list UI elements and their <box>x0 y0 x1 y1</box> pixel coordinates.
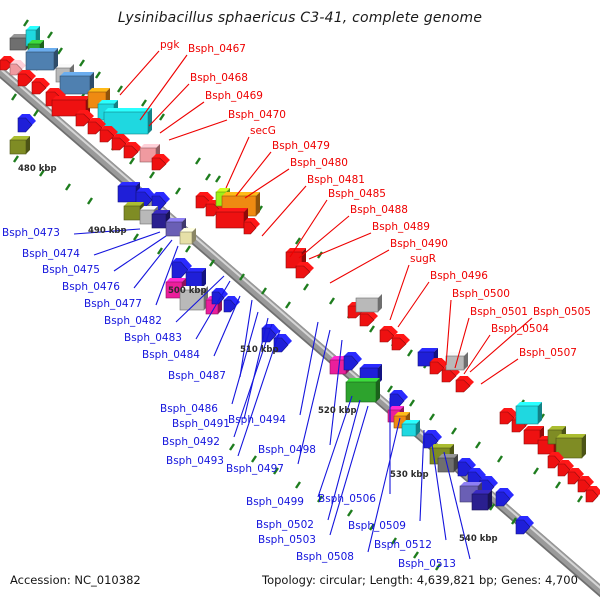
gene-box-top <box>60 72 94 76</box>
gene-box-face <box>516 406 538 424</box>
gene-label-bsph-0477[interactable]: Bsph_0477 <box>84 299 142 310</box>
ruler-tick-540: 540 kbp <box>459 534 498 544</box>
green-strand-marker[interactable] <box>348 510 352 516</box>
leader-line-red <box>299 216 349 258</box>
gene-label-bsph-0493[interactable]: Bsph_0493 <box>166 456 224 467</box>
gene-feature-rev-15[interactable] <box>390 390 408 408</box>
gene-label-bsph-0491[interactable]: Bsph_0491 <box>172 419 230 430</box>
green-strand-marker[interactable] <box>498 456 502 462</box>
gene-label-pgk[interactable]: pgk <box>160 40 179 51</box>
gene-label-bsph-0484[interactable]: Bsph_0484 <box>142 350 200 361</box>
green-strand-marker[interactable] <box>388 386 392 392</box>
green-strand-marker[interactable] <box>80 60 84 66</box>
gene-label-bsph-0507[interactable]: Bsph_0507 <box>519 348 577 359</box>
gene-label-secg[interactable]: secG <box>250 126 276 137</box>
green-strand-marker[interactable] <box>160 114 164 120</box>
leader-line-red <box>481 359 518 384</box>
gene-label-bsph-0508[interactable]: Bsph_0508 <box>296 552 354 563</box>
gene-feature-rev-12[interactable] <box>344 352 362 370</box>
gene-feature-fwd-19[interactable] <box>124 142 142 158</box>
green-strand-marker[interactable] <box>196 158 200 164</box>
gene-feature-fwd-35[interactable] <box>244 218 260 234</box>
gene-feature-rev-26[interactable] <box>472 490 492 510</box>
gene-feature-rev-8[interactable] <box>224 296 240 312</box>
gene-feature-rev-18[interactable] <box>402 420 420 436</box>
leader-line-red <box>120 51 159 95</box>
green-strand-marker[interactable] <box>430 414 434 420</box>
gene-box-face <box>166 222 182 236</box>
gene-label-bsph-0500[interactable]: Bsph_0500 <box>452 289 510 300</box>
green-strand-marker[interactable] <box>370 326 374 332</box>
gene-label-bsph-0497[interactable]: Bsph_0497 <box>226 464 284 475</box>
gene-feature-rev-0[interactable] <box>18 114 36 132</box>
gene-label-bsph-0476[interactable]: Bsph_0476 <box>62 282 120 293</box>
green-strand-marker[interactable] <box>286 302 290 308</box>
green-strand-marker[interactable] <box>408 350 412 356</box>
green-strand-marker[interactable] <box>88 198 92 204</box>
green-strand-marker[interactable] <box>534 468 538 474</box>
gene-feature-fwd-29[interactable] <box>180 228 196 244</box>
gene-label-bsph-0482[interactable]: Bsph_0482 <box>104 316 162 327</box>
gene-box-side <box>582 434 586 458</box>
green-strand-marker[interactable] <box>134 234 138 240</box>
gene-box-face <box>524 430 540 444</box>
gene-box-side <box>376 378 380 402</box>
green-strand-marker[interactable] <box>210 260 214 266</box>
gene-box-face <box>10 38 26 50</box>
ruler-tick-530: 530 kbp <box>390 470 429 480</box>
leader-line-red <box>390 265 409 320</box>
gene-box-face <box>402 424 416 436</box>
gene-feature-fwd-5[interactable] <box>26 48 58 70</box>
leader-line-red <box>236 152 271 196</box>
leader-line-red <box>309 233 371 259</box>
gene-box-top <box>26 48 58 52</box>
gene-box-face <box>26 52 54 70</box>
gene-feature-rev-27[interactable] <box>496 488 514 506</box>
gene-feature-fwd-34[interactable] <box>216 208 248 228</box>
gene-label-bsph-0496[interactable]: Bsph_0496 <box>430 271 488 282</box>
green-strand-marker[interactable] <box>262 288 266 294</box>
gene-label-bsph-0504[interactable]: Bsph_0504 <box>491 324 549 335</box>
green-strand-marker[interactable] <box>304 284 308 290</box>
gene-box-top <box>430 444 454 448</box>
green-strand-marker[interactable] <box>556 482 560 488</box>
gene-label-bsph-0494[interactable]: Bsph_0494 <box>228 415 286 426</box>
gene-box-top <box>104 108 152 112</box>
gene-label-bsph-0490[interactable]: Bsph_0490 <box>390 239 448 250</box>
topology-text: Topology: circular; Length: 4,639,821 bp… <box>262 573 578 587</box>
gene-box-top <box>556 434 586 438</box>
gene-feature-fwd-39[interactable] <box>360 310 378 326</box>
ruler-tick-500: 500 kbp <box>168 286 207 296</box>
leader-line-red <box>226 137 249 188</box>
gene-feature-fwd-37[interactable] <box>296 262 314 278</box>
gene-box-face <box>60 76 90 94</box>
green-strand-marker[interactable] <box>14 156 18 162</box>
gene-label-bsph-0488[interactable]: Bsph_0488 <box>350 205 408 216</box>
green-strand-marker[interactable] <box>476 442 480 448</box>
leader-line-red <box>245 169 289 198</box>
green-strand-marker[interactable] <box>252 456 256 462</box>
gene-feature-fwd-47[interactable] <box>456 376 474 392</box>
leader-line-red <box>149 84 189 126</box>
accession-text: Accession: NC_010382 <box>10 573 141 587</box>
gene-label-bsph-0479[interactable]: Bsph_0479 <box>272 141 330 152</box>
green-strand-marker[interactable] <box>452 428 456 434</box>
gene-label-bsph-0499[interactable]: Bsph_0499 <box>246 497 304 508</box>
genome-map-viewer: Lysinibacillus sphaericus C3-41, complet… <box>0 0 600 600</box>
green-strand-marker[interactable] <box>118 86 122 92</box>
ruler-tick-510: 510 kbp <box>240 345 279 355</box>
gene-label-bsph-0485[interactable]: Bsph_0485 <box>328 189 386 200</box>
gene-box-face <box>472 494 488 510</box>
gene-label-bsph-0501[interactable]: Bsph_0501 <box>470 307 528 318</box>
gene-label-bsph-0506[interactable]: Bsph_0506 <box>318 494 376 505</box>
green-strand-marker[interactable] <box>142 100 146 106</box>
gene-feature-fwd-50[interactable] <box>516 402 542 424</box>
gene-label-bsph-0467[interactable]: Bsph_0467 <box>188 44 246 55</box>
green-strand-marker[interactable] <box>58 48 62 54</box>
green-strand-marker[interactable] <box>24 20 28 26</box>
gene-label-bsph-0509[interactable]: Bsph_0509 <box>348 521 406 532</box>
gene-box-face <box>118 186 136 202</box>
gene-box-face <box>152 214 166 228</box>
gene-label-bsph-0498[interactable]: Bsph_0498 <box>258 445 316 456</box>
gene-box-face <box>10 140 26 154</box>
ruler-tick-480: 480 kbp <box>18 164 57 174</box>
gene-label-bsph-0474[interactable]: Bsph_0474 <box>22 249 80 260</box>
gene-label-bsph-0469[interactable]: Bsph_0469 <box>205 91 263 102</box>
leader-line-red <box>330 250 389 283</box>
green-strand-marker[interactable] <box>176 188 180 194</box>
green-strand-marker[interactable] <box>12 94 16 100</box>
gene-label-bsph-0475[interactable]: Bsph_0475 <box>42 265 100 276</box>
gene-box-top <box>52 96 90 100</box>
gene-box-top <box>216 208 248 212</box>
gene-label-bsph-0505[interactable]: Bsph_0505 <box>533 307 591 318</box>
gene-feature-fwd-59[interactable] <box>586 486 600 502</box>
gene-label-bsph-0512[interactable]: Bsph_0512 <box>374 540 432 551</box>
gene-box-top <box>222 192 260 196</box>
green-strand-marker[interactable] <box>34 110 38 116</box>
gene-label-bsph-0503[interactable]: Bsph_0503 <box>258 535 316 546</box>
gene-box-top <box>516 402 542 406</box>
gene-feature-fwd-9[interactable] <box>60 72 94 94</box>
gene-box-face <box>356 298 378 312</box>
gene-box-face <box>124 206 140 220</box>
leader-line-red <box>290 200 327 257</box>
green-strand-marker[interactable] <box>230 444 234 450</box>
leader-line-red <box>262 186 306 236</box>
green-strand-marker[interactable] <box>130 158 134 164</box>
gene-label-bsph-0468[interactable]: Bsph_0468 <box>190 73 248 84</box>
gene-label-bsph-0502[interactable]: Bsph_0502 <box>256 520 314 531</box>
ruler-tick-520: 520 kbp <box>318 406 357 416</box>
gene-box-top <box>346 378 380 382</box>
green-strand-marker[interactable] <box>186 246 190 252</box>
gene-label-bsph-0486[interactable]: Bsph_0486 <box>160 404 218 415</box>
gene-box-top <box>356 294 382 298</box>
leader-line-blue <box>134 240 172 288</box>
gene-label-bsph-0473[interactable]: Bsph_0473 <box>2 228 60 239</box>
green-strand-marker[interactable] <box>66 184 70 190</box>
gene-label-bsph-0481[interactable]: Bsph_0481 <box>307 175 365 186</box>
gene-label-bsph-0492[interactable]: Bsph_0492 <box>162 437 220 448</box>
gene-label-sugr[interactable]: sugR <box>410 254 436 265</box>
gene-feature-fwd-40[interactable] <box>356 294 382 312</box>
green-strand-marker[interactable] <box>296 482 300 488</box>
gene-feature-rev-3[interactable] <box>186 268 206 288</box>
gene-feature-rev-1[interactable] <box>10 136 30 154</box>
gene-box-side <box>148 108 152 134</box>
gene-feature-fwd-42[interactable] <box>392 334 410 350</box>
green-strand-marker[interactable] <box>216 176 220 182</box>
gene-label-bsph-0483[interactable]: Bsph_0483 <box>124 333 182 344</box>
leader-line-blue <box>244 318 268 419</box>
gene-label-bsph-0489[interactable]: Bsph_0489 <box>372 222 430 233</box>
gene-label-bsph-0470[interactable]: Bsph_0470 <box>228 110 286 121</box>
green-strand-marker[interactable] <box>96 72 100 78</box>
gene-label-bsph-0487[interactable]: Bsph_0487 <box>168 371 226 382</box>
leader-line-red <box>160 102 204 133</box>
green-strand-marker[interactable] <box>578 496 582 502</box>
gene-feature-fwd-21[interactable] <box>152 154 170 170</box>
ruler-tick-490: 490 kbp <box>88 226 127 236</box>
leader-line-red <box>169 120 227 140</box>
gene-box-face <box>216 212 244 228</box>
green-strand-marker[interactable] <box>330 298 334 304</box>
gene-box-face <box>180 232 192 244</box>
leader-line-blue <box>232 312 258 404</box>
gene-box-side <box>256 192 260 216</box>
green-strand-marker[interactable] <box>410 400 414 406</box>
green-strand-marker[interactable] <box>48 32 52 38</box>
gene-label-bsph-0480[interactable]: Bsph_0480 <box>290 158 348 169</box>
leader-line-red <box>398 282 429 327</box>
green-strand-marker[interactable] <box>150 172 154 178</box>
green-strand-marker[interactable] <box>206 174 210 180</box>
gene-label-bsph-0513[interactable]: Bsph_0513 <box>398 559 456 570</box>
